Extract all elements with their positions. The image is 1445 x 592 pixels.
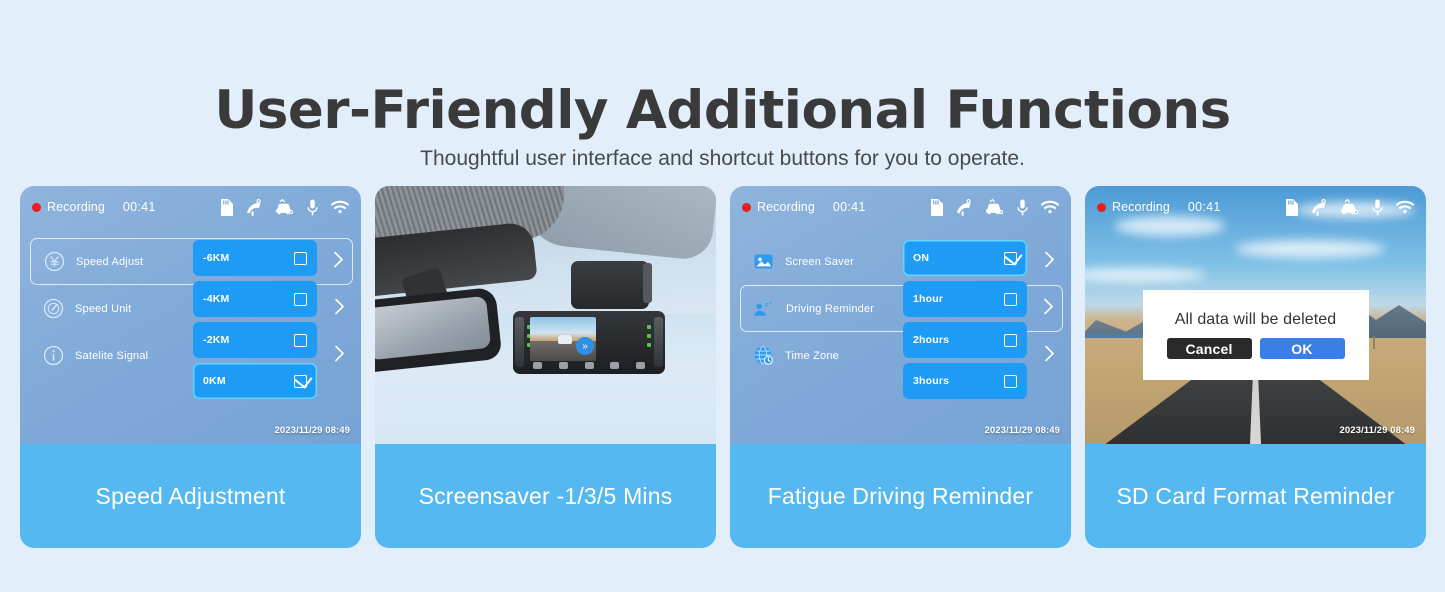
recording-timer: 00:41: [1188, 200, 1221, 214]
recording-timer: 00:41: [123, 200, 156, 214]
yen-speed-icon: [43, 251, 65, 273]
sd-card-icon: [218, 199, 233, 216]
utility-pole: [1373, 336, 1375, 349]
status-bar: Recording 00:41: [1085, 186, 1426, 228]
option-label: -6KM: [203, 252, 229, 264]
menu-item-label: Driving Reminder: [786, 303, 874, 315]
recording-timer: 00:41: [833, 200, 866, 214]
chevron-right-icon: [1044, 345, 1055, 367]
status-icon-group: [1283, 199, 1414, 216]
cloud: [1235, 240, 1385, 258]
checkbox-checked-icon[interactable]: [1004, 252, 1017, 265]
camera-right-edge: [654, 317, 663, 367]
screen-timestamp: 2023/11/29 08:49: [274, 425, 350, 436]
status-icon-group: [928, 199, 1059, 216]
menu-item-label: Satelite Signal: [75, 350, 148, 362]
recording-dot-icon: [1097, 203, 1106, 212]
menu-item-label: Time Zone: [785, 350, 839, 362]
option-label: 1hour: [913, 293, 943, 305]
recording-dot-icon: [742, 203, 751, 212]
card-caption: SD Card Format Reminder: [1085, 444, 1426, 548]
device-screen: Recording 00:41 All data will be deleted: [1085, 186, 1426, 444]
svg-text:z: z: [769, 300, 772, 305]
microphone-icon: [1372, 199, 1383, 216]
card-caption-text: Fatigue Driving Reminder: [768, 483, 1034, 510]
camera-left-edge: [515, 317, 524, 367]
image-icon: [752, 251, 774, 273]
recording-label: Recording: [47, 200, 105, 214]
card-caption: Fatigue Driving Reminder: [730, 444, 1071, 548]
satellite-icon: [1311, 199, 1327, 216]
option-list-reminder: ON 1hour 2hours 3hours: [903, 240, 1027, 399]
page-root: User-Friendly Additional Functions Thoug…: [0, 0, 1445, 592]
device-screen: Recording 00:41 Speed Adjust: [20, 186, 361, 444]
card-caption: Screensaver -1/3/5 Mins: [375, 444, 716, 548]
satellite-icon: [956, 199, 972, 216]
dashcam-button-row[interactable]: [533, 362, 645, 371]
checkbox-icon[interactable]: [294, 293, 307, 306]
feature-card-speed-adjustment[interactable]: Recording 00:41 Speed Adjust: [20, 186, 361, 548]
recording-dot-icon: [32, 203, 41, 212]
microphone-icon: [1017, 199, 1028, 216]
checkbox-icon[interactable]: [1004, 375, 1017, 388]
parking-monitor-icon: [275, 199, 294, 215]
option-label: 3hours: [913, 375, 949, 387]
preview-car: [558, 335, 572, 344]
led-indicator: [647, 325, 651, 329]
wifi-icon: [1041, 200, 1059, 214]
dashcam-body: »: [513, 311, 665, 374]
card-caption: Speed Adjustment: [20, 444, 361, 548]
chevron-right-icon: [333, 251, 344, 273]
recording-label: Recording: [757, 200, 815, 214]
page-subtitle: Thoughtful user interface and shortcut b…: [0, 147, 1445, 171]
parking-monitor-icon: [985, 199, 1004, 215]
power-button[interactable]: [533, 362, 542, 369]
parking-monitor-icon: [1340, 199, 1359, 215]
led-indicator: [647, 334, 651, 338]
camera-button[interactable]: [585, 362, 594, 369]
dialog-button-row: Cancel OK: [1167, 338, 1345, 359]
sd-card-icon: [1283, 199, 1298, 216]
ok-button[interactable]: OK: [1260, 338, 1345, 359]
chevron-right-icon: [1043, 298, 1054, 320]
option-item-selected[interactable]: ON: [903, 240, 1027, 276]
lock-button[interactable]: [610, 362, 619, 369]
option-label: -4KM: [203, 293, 229, 305]
option-item[interactable]: 3hours: [903, 363, 1027, 399]
fast-forward-icon: »: [576, 337, 594, 355]
card-caption-text: Screensaver -1/3/5 Mins: [419, 483, 673, 510]
speedometer-icon: [42, 298, 64, 320]
feature-card-screensaver[interactable]: » Screensaver -1/3/5 Mins: [375, 186, 716, 548]
option-item[interactable]: 1hour: [903, 281, 1027, 317]
option-label: -2KM: [203, 334, 229, 346]
led-indicator: [647, 343, 651, 347]
checkbox-icon[interactable]: [1004, 293, 1017, 306]
option-item[interactable]: -4KM: [193, 281, 317, 317]
home-button[interactable]: [559, 362, 568, 369]
globe-clock-icon: [752, 345, 774, 367]
cloud: [1085, 268, 1205, 282]
info-icon: [42, 345, 64, 367]
recording-indicator: Recording: [1097, 200, 1170, 214]
format-confirm-dialog: All data will be deleted Cancel OK: [1143, 290, 1369, 380]
chevron-right-icon: [1044, 251, 1055, 273]
option-label: 2hours: [913, 334, 949, 346]
page-title: User-Friendly Additional Functions: [0, 82, 1445, 139]
rearview-mirror: [375, 287, 502, 373]
option-list-speed: -6KM -4KM -2KM 0KM: [193, 240, 317, 399]
option-item[interactable]: -2KM: [193, 322, 317, 358]
screen-timestamp: 2023/11/29 08:49: [1339, 425, 1415, 436]
checkbox-icon[interactable]: [294, 252, 307, 265]
menu-item-label: Screen Saver: [785, 256, 854, 268]
menu-button[interactable]: [636, 362, 645, 369]
dashcam-preview-screen: »: [530, 317, 596, 361]
option-label: ON: [913, 252, 929, 264]
recording-indicator: Recording: [742, 200, 815, 214]
screen-timestamp: 2023/11/29 08:49: [984, 425, 1060, 436]
recording-label: Recording: [1112, 200, 1170, 214]
checkbox-icon[interactable]: [1004, 334, 1017, 347]
card-caption-text: Speed Adjustment: [96, 483, 286, 510]
heading-block: User-Friendly Additional Functions Thoug…: [0, 82, 1445, 171]
camera-mount: [571, 261, 649, 309]
sleeping-person-icon: zz: [753, 298, 775, 320]
cancel-button[interactable]: Cancel: [1167, 338, 1252, 359]
microphone-icon: [307, 199, 318, 216]
checkbox-checked-icon[interactable]: [294, 375, 307, 388]
feature-card-fatigue-reminder[interactable]: Recording 00:41 Screen Saver: [730, 186, 1071, 548]
option-item[interactable]: -6KM: [193, 240, 317, 276]
feature-card-sd-format[interactable]: Recording 00:41 All data will be deleted: [1085, 186, 1426, 548]
status-bar: Recording 00:41: [730, 186, 1071, 228]
chevron-right-icon: [334, 345, 345, 367]
chevron-right-icon: [334, 298, 345, 320]
device-screen: Recording 00:41 Screen Saver: [730, 186, 1071, 444]
status-bar: Recording 00:41: [20, 186, 361, 228]
option-item-selected[interactable]: 0KM: [193, 363, 317, 399]
wifi-icon: [1396, 200, 1414, 214]
card-caption-text: SD Card Format Reminder: [1116, 483, 1394, 510]
menu-item-label: Speed Adjust: [76, 256, 143, 268]
menu-item-label: Speed Unit: [75, 303, 131, 315]
option-item[interactable]: 2hours: [903, 322, 1027, 358]
status-icon-group: [218, 199, 349, 216]
option-label: 0KM: [203, 375, 226, 387]
recording-indicator: Recording: [32, 200, 105, 214]
sd-card-icon: [928, 199, 943, 216]
satellite-icon: [246, 199, 262, 216]
dialog-message: All data will be deleted: [1175, 311, 1337, 329]
checkbox-icon[interactable]: [294, 334, 307, 347]
feature-card-grid: Recording 00:41 Speed Adjust: [20, 186, 1433, 548]
windshield-scene: »: [375, 186, 716, 444]
wifi-icon: [331, 200, 349, 214]
dashcam-photo: »: [375, 186, 716, 444]
